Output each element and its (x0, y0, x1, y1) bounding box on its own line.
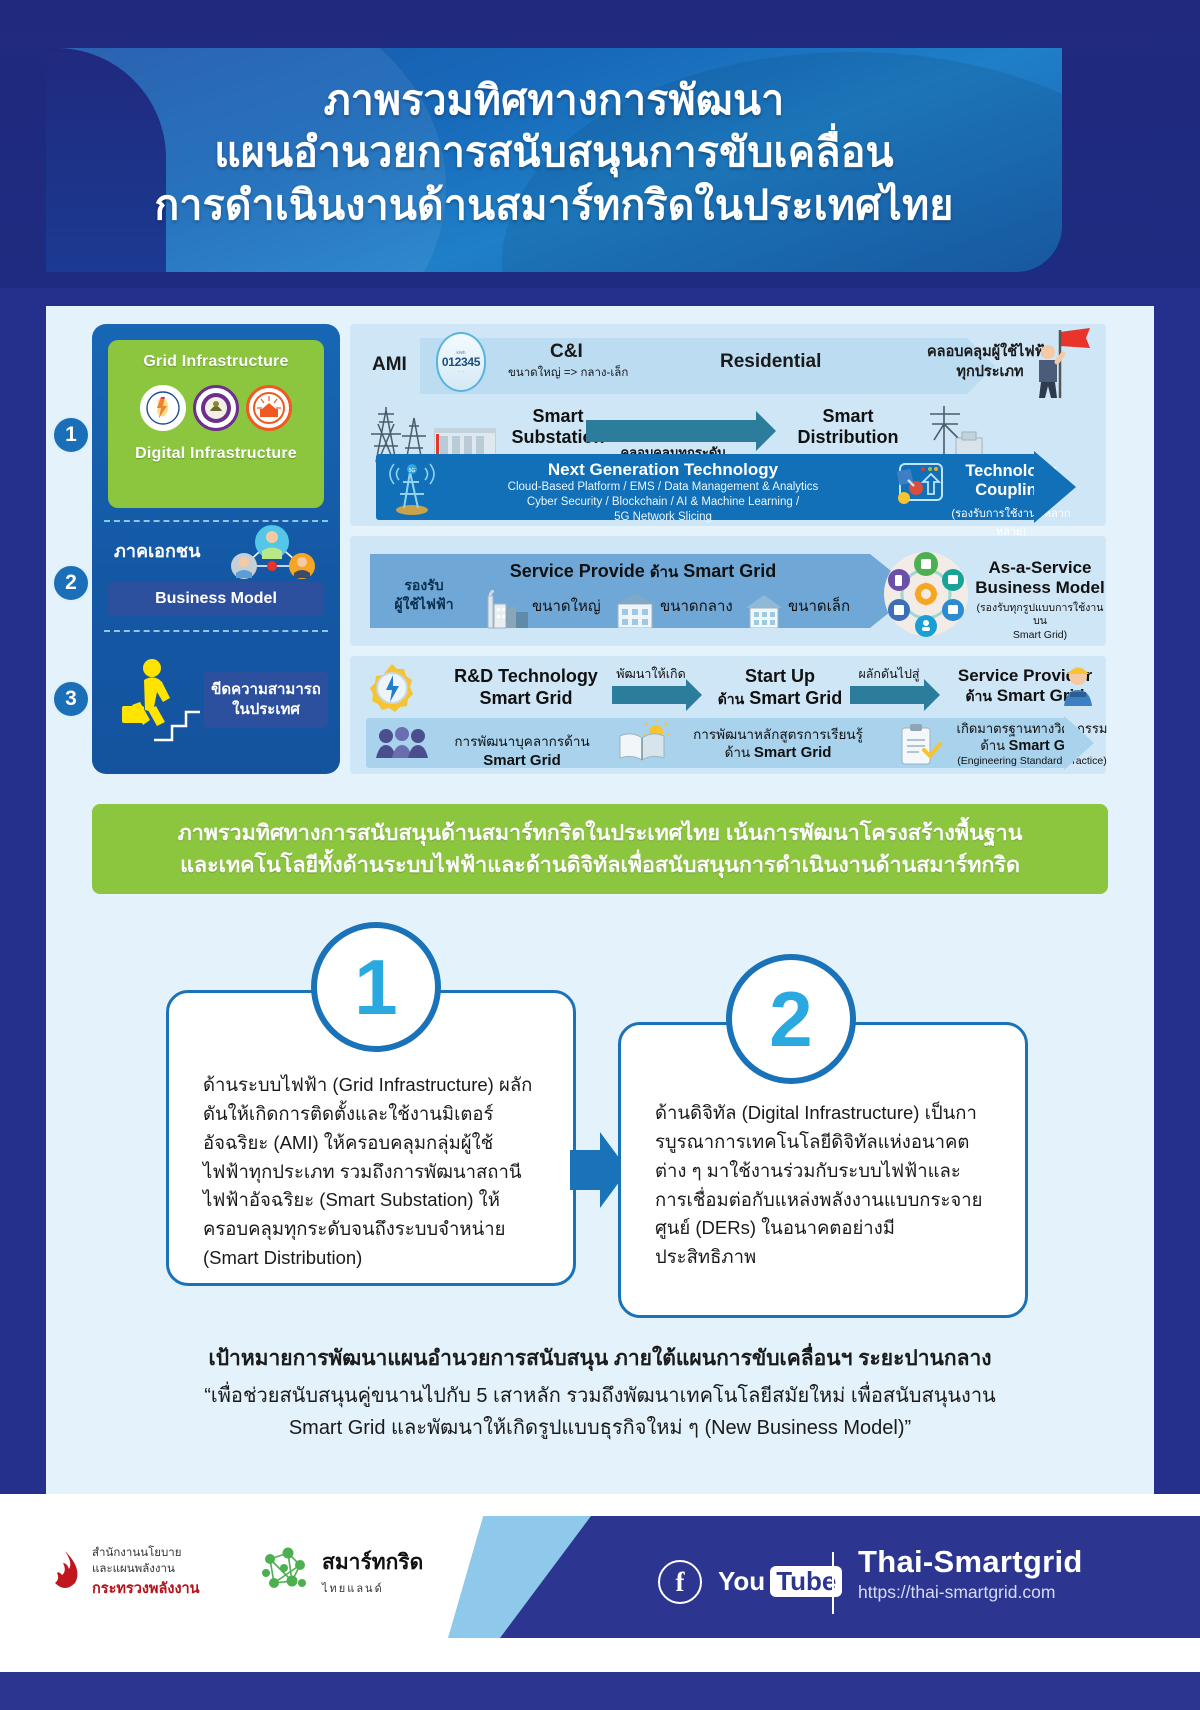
as-a-service-wheel-icon (880, 548, 972, 645)
diagram-rows: AMI kWh 012345 · · · C&I ขนาดใหญ่ => กลา… (350, 324, 1106, 774)
hr-prefix: การพัฒนาบุคลากรด้าน (454, 734, 589, 749)
rnd-line-1: R&D Technology (426, 666, 626, 688)
aas-line-2: Business Model (974, 578, 1106, 598)
size-medium-label: ขนาดกลาง (660, 594, 733, 618)
aas-line-1: As-a-Service (974, 558, 1106, 578)
epp-flame-icon (48, 1549, 82, 1597)
technology-coupling-icon (892, 460, 944, 517)
row-grid-digital-infrastructure: AMI kWh 012345 · · · C&I ขนาดใหญ่ => กลา… (350, 324, 1106, 526)
footer-divider (832, 1552, 834, 1614)
epp-line-2: และแผนพลังงาน (92, 1562, 200, 1578)
startup-label: Start Up ด้าน Smart Grid (700, 666, 860, 709)
robot-arm-icon (1030, 466, 1070, 511)
startup-line-2: ด้าน Smart Grid (700, 688, 860, 710)
edu-line-1: การพัฒนาหลักสูตรการเรียนรู้ (672, 726, 884, 743)
aas-sub-line-2: Smart Grid) (974, 629, 1106, 643)
rnd-gear-icon (366, 662, 418, 719)
service-provide-c: Smart Grid (683, 561, 776, 581)
coverage-arrow (586, 420, 756, 442)
step-badge-1: 1 (52, 416, 90, 454)
5g-tower-icon: 5G (386, 460, 438, 521)
curriculum-label: การพัฒนาหลักสูตรการเรียนรู้ ด้าน Smart G… (672, 726, 884, 762)
smartgrid-name: สมาร์ทกริด (322, 1546, 423, 1579)
startup-prefix: ด้าน (718, 691, 745, 707)
edu-bold: Smart Grid (754, 744, 832, 761)
support-line-1: รองรับ (378, 576, 470, 595)
arrow-2-label: ผลักดันไปสู่ (844, 664, 934, 684)
support-users-label: รองรับ ผู้ใช้ไฟฟ้า (378, 576, 470, 614)
step-badge-2: 2 (52, 564, 90, 602)
epp-line-3: กระทรวงพลังงาน (92, 1577, 200, 1600)
youtube-logo[interactable]: You Tube (718, 1566, 842, 1597)
egat-seal-icon (140, 385, 186, 431)
pea-seal-icon (193, 385, 239, 431)
main-panel: 1 2 3 Grid Infrastructure (46, 306, 1154, 1494)
tech-coupling-line-1: Technology (948, 462, 1074, 481)
meter-digits: 012345 (442, 355, 480, 369)
residential-label: Residential (720, 351, 821, 373)
capability-sub-band: การพัฒนาบุคลากรด้าน Smart Grid (366, 718, 1066, 768)
smart-distribution-line-1: Smart (778, 406, 918, 427)
title-line-2: แผนอำนวยการสนับสนุนการขับเคลื่อน (46, 126, 1062, 178)
smartgrid-network-icon (258, 1547, 312, 1597)
arrow-1-label: พัฒนาให้เกิด (606, 664, 696, 684)
card-1-number-circle: 1 (311, 922, 441, 1052)
people-group-icon (374, 726, 430, 765)
goal-body: “เพื่อช่วยสนับสนุนคู่ขนานไปกับ 5 เสาหลัก… (142, 1380, 1058, 1445)
digital-infrastructure-label: Digital Infrastructure (108, 445, 324, 463)
smartgrid-logo: สมาร์ทกริด ไทยแลนด์ (258, 1546, 423, 1597)
career-stairs-icon (114, 654, 206, 746)
next-gen-line-2: Cyber Security / Blockchain / AI & Machi… (438, 495, 888, 510)
size-small-label: ขนาดเล็ก (788, 594, 850, 618)
std-line-1: เกิดมาตรฐานทางวิศวกรรม (942, 721, 1122, 737)
edu-line-2: ด้าน Smart Grid (672, 743, 884, 762)
agency-seals (108, 385, 324, 431)
flag-person-icon (1028, 326, 1098, 400)
engineering-standard-label: เกิดมาตรฐานทางวิศวกรรม ด้าน Smart Grid (… (942, 721, 1122, 769)
std-line-2: ด้าน Smart Grid (942, 737, 1122, 755)
row-national-capability: R&D Technology Smart Grid พัฒนาให้เกิด S… (350, 656, 1106, 774)
clipboard-standard-icon (894, 720, 942, 773)
provider-prefix: ด้าน (965, 688, 992, 704)
site-info[interactable]: Thai-Smartgrid https://thai-smartgrid.co… (858, 1544, 1083, 1603)
hr-bold: Smart Grid (483, 752, 561, 769)
row-business-model: รองรับ ผู้ใช้ไฟฟ้า Service Provide ด้าน … (350, 536, 1106, 646)
mea-seal-icon (246, 385, 292, 431)
std-bold: Smart Grid (1009, 738, 1084, 754)
technology-coupling-text: Technology Coupling (รองรับการใช้งานที่ห… (948, 462, 1074, 540)
startup-bold: Smart Grid (749, 688, 842, 708)
epp-line-1: สำนักงานนโยบาย (92, 1546, 200, 1562)
next-gen-line-1: Cloud-Based Platform / EMS / Data Manage… (438, 480, 888, 495)
goal-title: เป้าหมายการพัฒนาแผนอำนวยการสนับสนุน ภายใ… (92, 1342, 1108, 1375)
ami-coverage-arrow (420, 338, 968, 394)
std-prefix: ด้าน (980, 738, 1005, 753)
header-plate: ภาพรวมทิศทางการพัฒนา แผนอำนวยการสนับสนุน… (46, 48, 1062, 272)
facebook-icon[interactable]: f (658, 1560, 702, 1604)
youtube-you: You (718, 1566, 765, 1597)
as-a-service-text: As-a-Service Business Model (รองรับทุกรู… (974, 558, 1106, 643)
house-icon (742, 592, 786, 633)
meter-footer: · · · (458, 369, 465, 374)
office-building-icon (612, 592, 658, 633)
title-line-1: ภาพรวมทิศทางการพัฒนา (46, 74, 1062, 126)
rnd-line-2: Smart Grid (426, 688, 626, 710)
aas-sub-line-1: (รองรับทุกรูปแบบการใช้งานบน (974, 602, 1106, 629)
footer-bottom-bar (0, 1672, 1200, 1710)
footer-blue-shape (500, 1516, 1200, 1638)
private-sector-label: ภาคเอกชน (114, 536, 200, 565)
smart-distribution-label: Smart Distribution (778, 406, 918, 448)
ci-label: C&I (550, 341, 583, 363)
card-2-number-circle: 2 (726, 954, 856, 1084)
book-idea-icon (616, 720, 670, 771)
summary-line-1: ภาพรวมทิศทางการสนับสนุนด้านสมาร์ทกริดในป… (178, 817, 1023, 849)
next-generation-technology-band: 5G Next Generation Technology Cloud-Base… (376, 454, 1036, 520)
factory-icon (482, 590, 530, 635)
epp-logo: สำนักงานนโยบาย และแผนพลังงาน กระทรวงพลัง… (48, 1546, 200, 1600)
site-name: Thai-Smartgrid (858, 1544, 1083, 1580)
smart-distribution-line-2: Distribution (778, 427, 918, 448)
tech-coupling-sub: (รองรับการใช้งานที่หลากหลาย) (948, 504, 1074, 540)
capability-line-2: ในประเทศ (232, 700, 300, 720)
tech-coupling-line-2: Coupling (948, 481, 1074, 500)
next-gen-line-3: 5G Network Slicing (438, 510, 888, 525)
svg-text:5G: 5G (409, 468, 416, 474)
engineer-icon (1054, 662, 1102, 713)
service-provide-a: Service Provide (510, 561, 645, 581)
next-gen-title: Next Generation Technology (438, 460, 888, 480)
business-model-box: Business Model (108, 582, 324, 616)
infrastructure-green-box: Grid Infrastructure Digital Infrastructu… (108, 340, 324, 508)
smart-meter-icon: kWh 012345 · · · (436, 332, 486, 392)
goal-line-1: “เพื่อช่วยสนับสนุนคู่ขนานไปกับ 5 เสาหลัก… (142, 1380, 1058, 1412)
ci-sublabel: ขนาดใหญ่ => กลาง-เล็ก (508, 364, 628, 382)
arrow-2 (850, 686, 924, 704)
capability-box: ขีดความสามารถ ในประเทศ (204, 672, 328, 728)
divider-2 (104, 630, 328, 632)
footer: สำนักงานนโยบาย และแผนพลังงาน กระทรวงพลัง… (0, 1494, 1200, 1710)
smartgrid-sub: ไทยแลนด์ (322, 1579, 423, 1597)
title-line-3: การดำเนินงานด้านสมาร์ทกริดในประเทศไทย (46, 179, 1062, 231)
hr-development-label: การพัฒนาบุคลากรด้าน Smart Grid (432, 730, 612, 769)
grid-infrastructure-label: Grid Infrastructure (108, 353, 324, 371)
rnd-technology-label: R&D Technology Smart Grid (426, 666, 626, 709)
site-url: https://thai-smartgrid.com (858, 1582, 1083, 1603)
people-network-icon (222, 520, 322, 582)
startup-line-1: Start Up (700, 666, 860, 688)
arrow-1 (612, 686, 686, 704)
step-badge-3: 3 (52, 680, 90, 718)
service-provide-title: Service Provide ด้าน Smart Grid (478, 560, 808, 584)
service-provide-b: ด้าน (650, 564, 678, 581)
left-category-column: Grid Infrastructure Digital Infrastructu… (92, 324, 340, 774)
goal-line-2: Smart Grid และพัฒนาให้เกิดรูปแบบธุรกิจให… (142, 1412, 1058, 1444)
size-large-label: ขนาดใหญ่ (532, 594, 601, 618)
summary-line-2: และเทคโนโลยีทั้งด้านระบบไฟฟ้าและด้านดิจิ… (178, 849, 1023, 881)
edu-prefix: ด้าน (725, 745, 751, 760)
summary-green-banner: ภาพรวมทิศทางการสนับสนุนด้านสมาร์ทกริดในป… (92, 804, 1108, 894)
header-band: ภาพรวมทิศทางการพัฒนา แผนอำนวยการสนับสนุน… (0, 0, 1200, 288)
ami-label: AMI (372, 354, 407, 376)
page-title: ภาพรวมทิศทางการพัฒนา แผนอำนวยการสนับสนุน… (46, 48, 1062, 231)
diagram-area: 1 2 3 Grid Infrastructure (46, 306, 1154, 792)
next-gen-text-block: Next Generation Technology Cloud-Based P… (438, 460, 888, 526)
infographic-page: ภาพรวมทิศทางการพัฒนา แผนอำนวยการสนับสนุน… (0, 0, 1200, 1710)
std-line-3: (Engineering Standard Practice) (942, 755, 1122, 768)
support-line-2: ผู้ใช้ไฟฟ้า (378, 595, 470, 614)
capability-line-1: ขีดความสามารถ (211, 680, 321, 700)
